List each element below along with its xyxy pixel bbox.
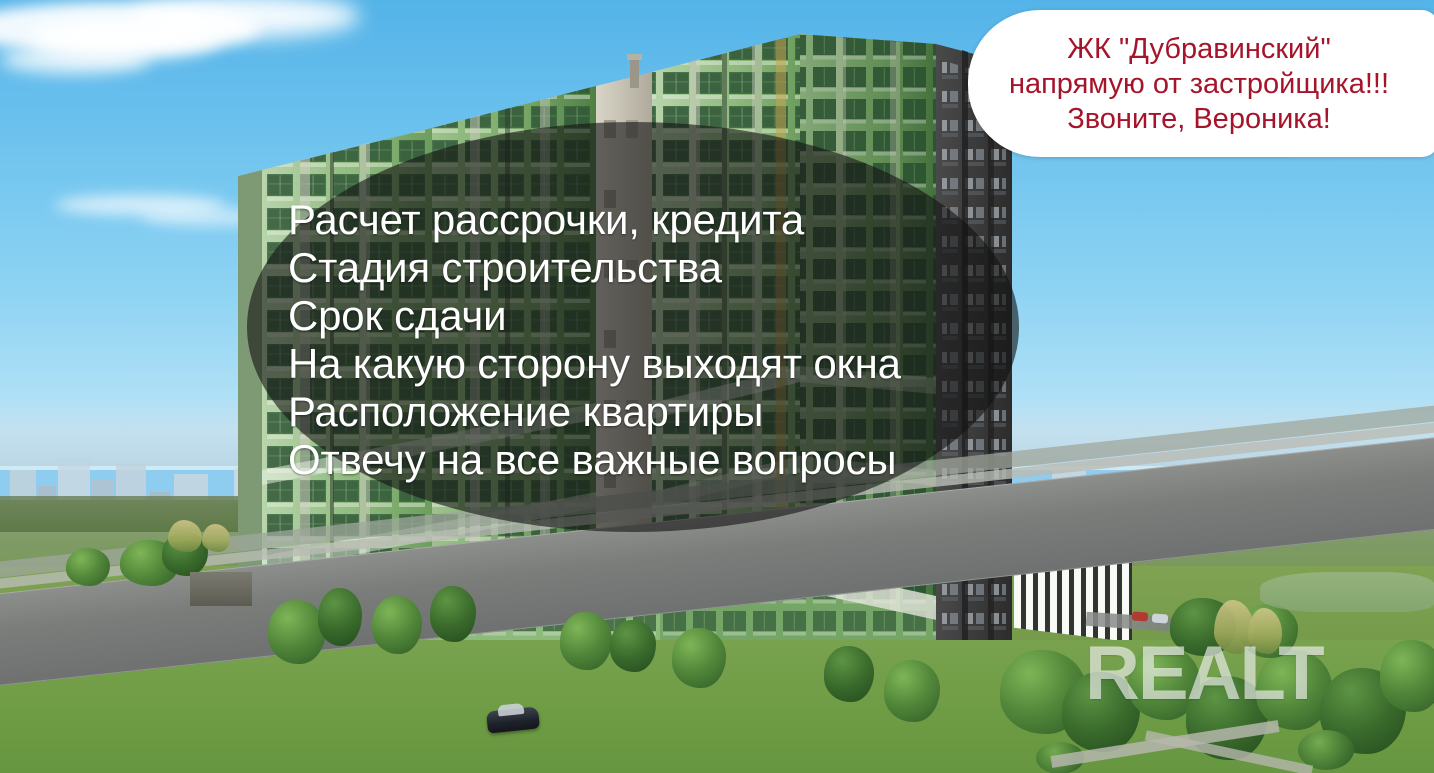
feature-line-2: Стадия строительства [288, 244, 1008, 292]
speech-bubble: ЖК "Дубравинский" напрямую от застройщик… [968, 10, 1434, 157]
ornamental-grass [202, 524, 230, 552]
advertisement-image: Расчет рассрочки, кредита Стадия строите… [0, 0, 1434, 773]
tree [560, 612, 612, 670]
tree [318, 588, 362, 646]
tree [66, 548, 110, 586]
feature-line-6: Отвечу на все важные вопросы [288, 436, 1008, 484]
tree [884, 660, 940, 722]
tree [824, 646, 874, 702]
bubble-line-1: ЖК "Дубравинский" [968, 32, 1430, 67]
tree [268, 600, 326, 664]
realt-watermark: REALT [1085, 630, 1323, 717]
tree [672, 628, 726, 688]
parked-car [1152, 613, 1169, 623]
bubble-line-3: Звоните, Вероника! [968, 102, 1430, 137]
pond [1260, 572, 1434, 612]
feature-line-4: На какую сторону выходят окна [288, 340, 1008, 388]
feature-line-1: Расчет рассрочки, кредита [288, 196, 1008, 244]
utility-building [190, 572, 252, 606]
parked-car [1132, 611, 1149, 621]
tree [610, 620, 656, 672]
feature-line-5: Расположение квартиры [288, 388, 1008, 436]
tree [430, 586, 476, 642]
feature-list-overlay: Расчет рассрочки, кредита Стадия строите… [288, 196, 1008, 484]
feature-line-3: Срок сдачи [288, 292, 1008, 340]
tree [1380, 640, 1434, 712]
tree [372, 596, 422, 654]
bubble-line-2: напрямую от застройщика!!! [968, 67, 1430, 102]
ornamental-grass [168, 520, 202, 552]
speech-bubble-text: ЖК "Дубравинский" напрямую от застройщик… [968, 32, 1430, 137]
